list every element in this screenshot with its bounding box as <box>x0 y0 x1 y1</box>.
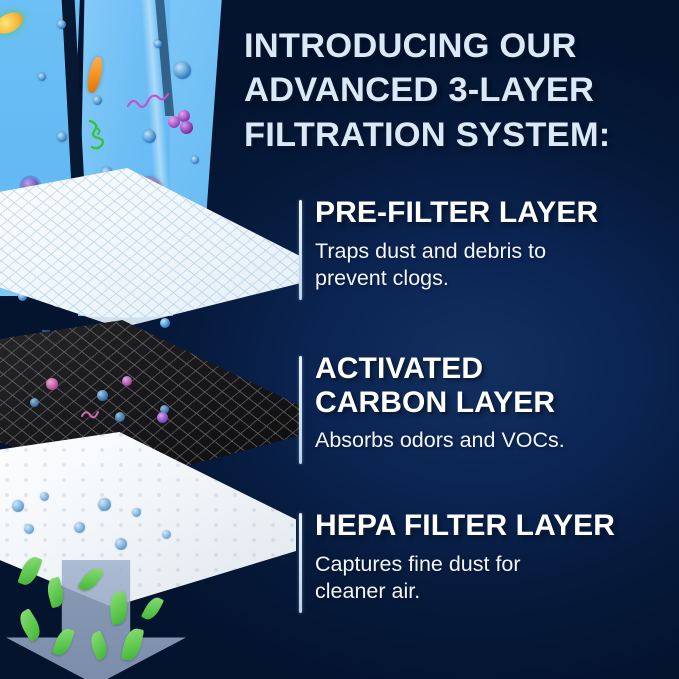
layer-description-line-1: Traps dust and debris to <box>315 238 598 266</box>
layer-item-pre-filter: PRE-FILTER LAYER Traps dust and debris t… <box>299 196 598 293</box>
layer-description-line-1: Captures fine dust for <box>315 551 615 579</box>
layer-title-line-2: CARBON LAYER <box>315 386 565 420</box>
layer-description-line-2: cleaner air. <box>315 578 615 606</box>
accent-bar <box>299 356 302 464</box>
layer-title: HEPA FILTER LAYER <box>315 509 615 543</box>
accent-bar <box>299 513 302 613</box>
text-panel: INTRODUCING OUR ADVANCED 3-LAYER FILTRAT… <box>0 0 679 679</box>
layer-title: PRE-FILTER LAYER <box>315 196 598 230</box>
layer-description: Traps dust and debris to prevent clogs. <box>315 238 598 293</box>
layer-description: Absorbs odors and VOCs. <box>315 427 565 455</box>
layer-description: Captures fine dust for cleaner air. <box>315 551 615 606</box>
accent-bar <box>299 200 302 300</box>
headline-line-3: FILTRATION SYSTEM: <box>244 113 664 157</box>
layer-item-activated-carbon: ACTIVATED CARBON LAYER Absorbs odors and… <box>299 352 565 455</box>
layer-title: ACTIVATED CARBON LAYER <box>315 352 565 419</box>
layer-description-line-1: Absorbs odors and VOCs. <box>315 427 565 455</box>
layer-item-hepa-filter: HEPA FILTER LAYER Captures fine dust for… <box>299 509 615 606</box>
headline-line-1: INTRODUCING OUR <box>244 24 664 68</box>
infographic-canvas: INTRODUCING OUR ADVANCED 3-LAYER FILTRAT… <box>0 0 679 679</box>
headline-line-2: ADVANCED 3-LAYER <box>244 68 664 112</box>
layer-title-line-1: ACTIVATED <box>315 352 565 386</box>
page-title: INTRODUCING OUR ADVANCED 3-LAYER FILTRAT… <box>244 24 664 157</box>
layer-description-line-2: prevent clogs. <box>315 265 598 293</box>
